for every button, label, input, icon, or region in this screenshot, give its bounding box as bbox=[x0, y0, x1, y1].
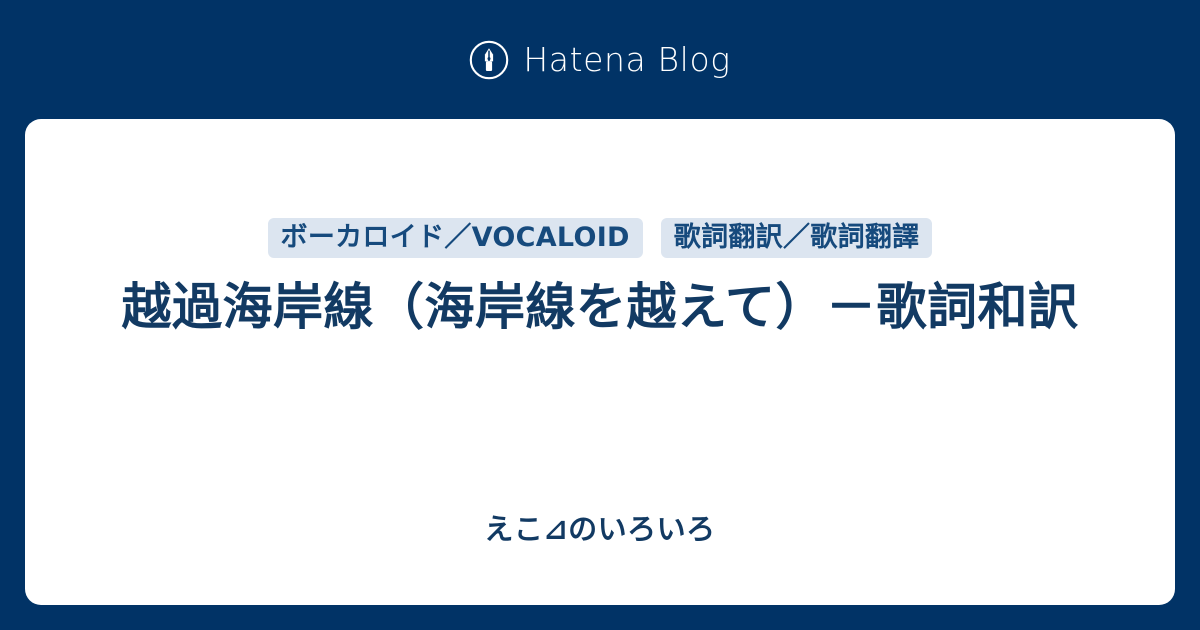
og-image-canvas: Hatena Blog ボーカロイド／VOCALOID 歌詞翻訳／歌詞翻譯 越過… bbox=[0, 0, 1200, 630]
entry-card: ボーカロイド／VOCALOID 歌詞翻訳／歌詞翻譯 越過海岸線（海岸線を越えて）… bbox=[25, 119, 1175, 605]
category-tag-lyrics-translation[interactable]: 歌詞翻訳／歌詞翻譯 bbox=[661, 218, 933, 258]
category-tag-list: ボーカロイド／VOCALOID 歌詞翻訳／歌詞翻譯 bbox=[25, 218, 1175, 258]
pen-nib-icon bbox=[469, 40, 509, 80]
hatena-blog-wordmark: Hatena Blog bbox=[523, 43, 730, 76]
hatena-blog-logo bbox=[469, 40, 509, 80]
category-tag-vocaloid[interactable]: ボーカロイド／VOCALOID bbox=[268, 218, 643, 258]
blog-name: えこ⊿のいろいろ bbox=[25, 512, 1175, 547]
hatena-blog-brand: Hatena Blog bbox=[0, 0, 1200, 119]
entry-title: 越過海岸線（海岸線を越えて）－歌詞和訳 bbox=[85, 273, 1115, 342]
